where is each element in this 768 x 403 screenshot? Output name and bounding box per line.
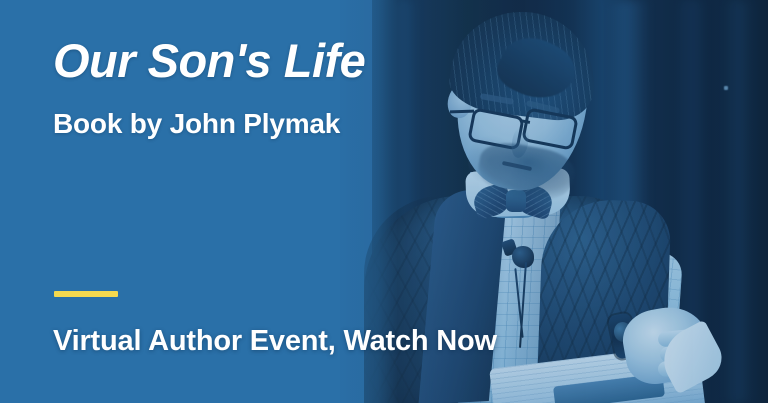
banner-title: Our Son's Life <box>53 36 365 87</box>
banner-cta-text[interactable]: Virtual Author Event, Watch Now <box>53 325 497 358</box>
promo-banner: Our Son's Life Book by John Plymak Virtu… <box>0 0 768 403</box>
banner-subtitle: Book by John Plymak <box>53 108 340 140</box>
yellow-accent-bar <box>54 291 118 297</box>
